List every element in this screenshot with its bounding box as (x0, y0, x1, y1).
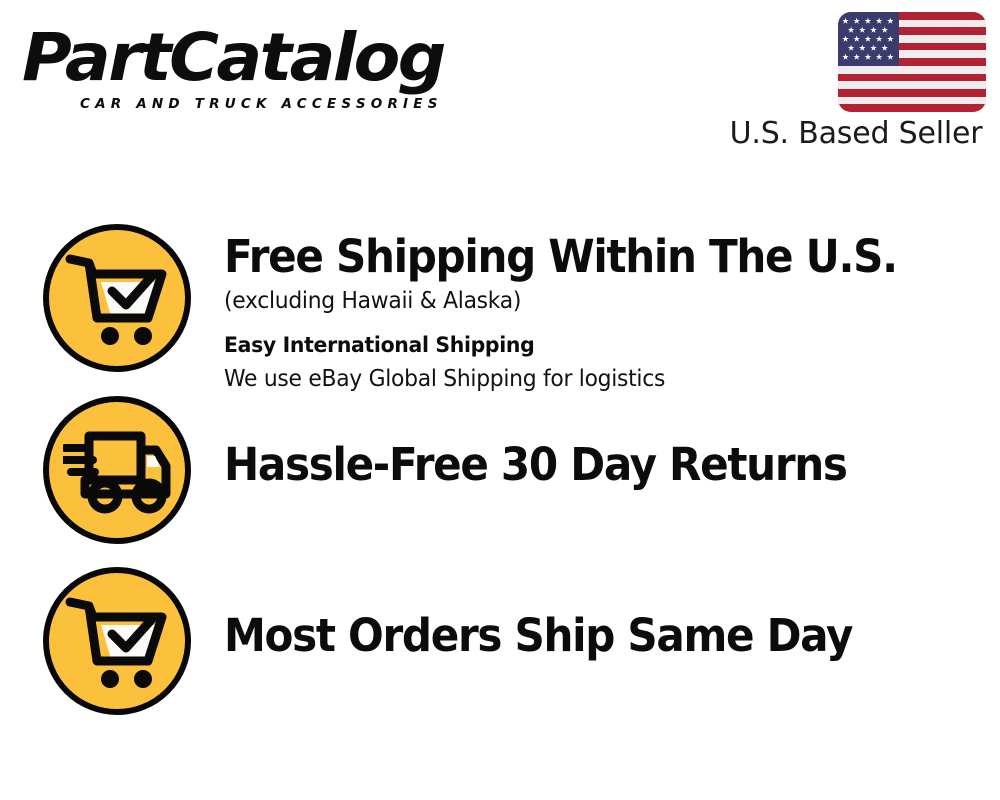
feature-headline: Free Shipping Within The U.S. (224, 232, 950, 282)
banner-header: PartCatalog CAR AND TRUCK ACCESSORIES (0, 0, 1000, 180)
feature-row: Free Shipping Within The U.S. (excluding… (0, 224, 1000, 395)
partcatalog-logo: PartCatalog CAR AND TRUCK ACCESSORIES (22, 24, 492, 114)
feature-row: Hassle-Free 30 Day Returns (0, 396, 1000, 544)
feature-text-block: Most Orders Ship Same Day (224, 567, 1000, 661)
brand-tagline: CAR AND TRUCK ACCESSORIES (80, 96, 443, 112)
feature-subdetail: We use eBay Global Shipping for logistic… (224, 363, 961, 395)
us-flag-icon (838, 12, 986, 112)
brand-wordmark: PartCatalog (22, 24, 506, 92)
feature-subheading: Easy International Shipping (224, 329, 961, 363)
flag-canton (838, 12, 899, 66)
feature-subnote: (excluding Hawaii & Alaska) (224, 285, 961, 317)
feature-text-block: Hassle-Free 30 Day Returns (224, 396, 1000, 490)
promo-banner: PartCatalog CAR AND TRUCK ACCESSORIES (0, 0, 1000, 800)
feature-text-block: Free Shipping Within The U.S. (excluding… (224, 224, 1000, 395)
feature-headline: Most Orders Ship Same Day (224, 611, 950, 661)
feature-row: Most Orders Ship Same Day (0, 567, 1000, 715)
us-based-seller-label: U.S. Based Seller (725, 116, 987, 152)
delivery-truck-icon (43, 396, 191, 544)
shopping-cart-check-icon (43, 224, 191, 372)
shopping-cart-check-icon (43, 567, 191, 715)
feature-headline: Hassle-Free 30 Day Returns (224, 440, 950, 490)
